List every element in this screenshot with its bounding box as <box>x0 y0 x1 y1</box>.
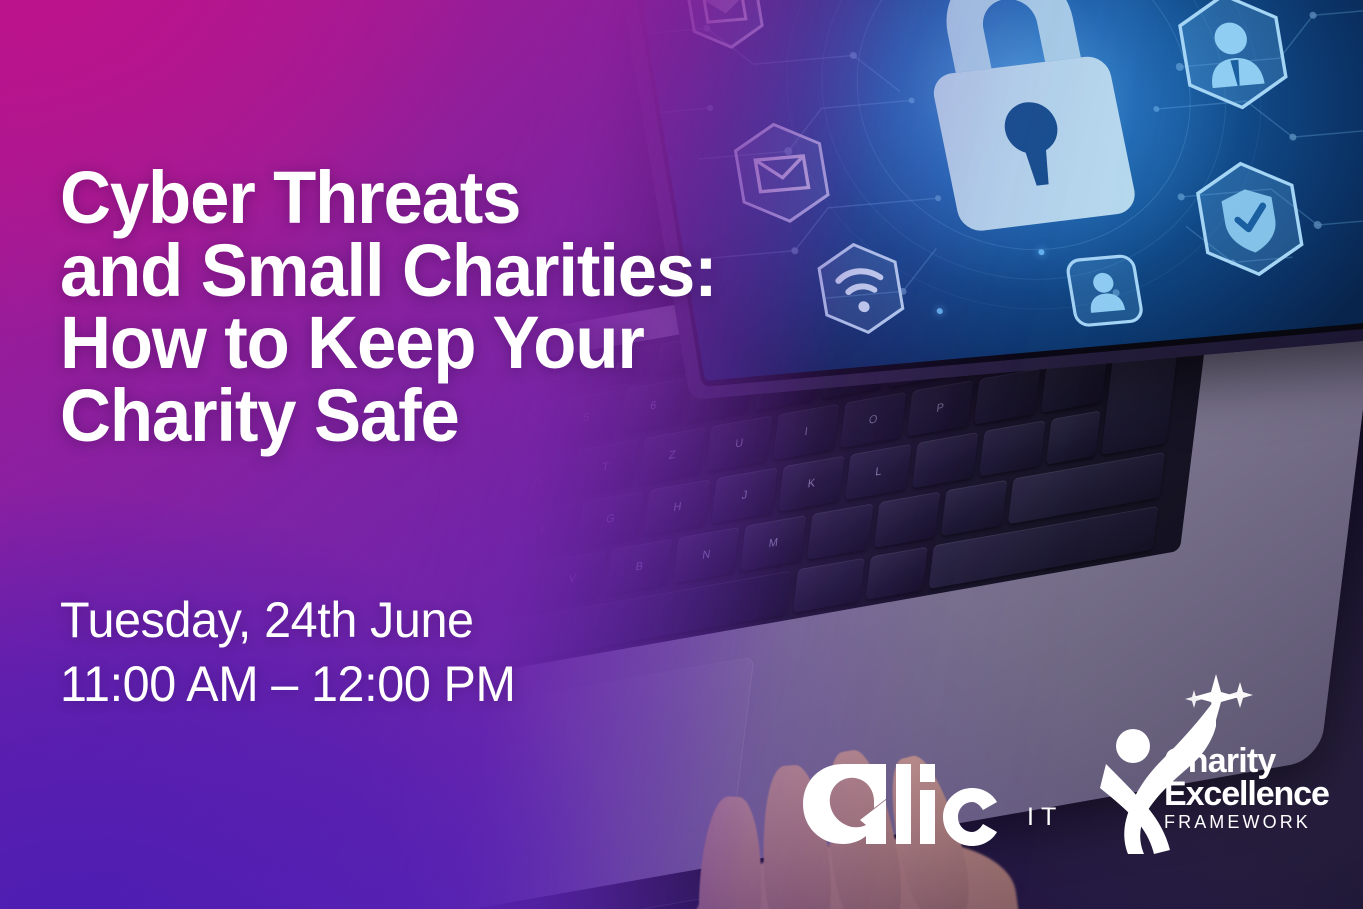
banner-content: Cyber Threats and Small Charities: How t… <box>0 0 1363 909</box>
page-title: Cyber Threats and Small Charities: How t… <box>60 162 709 452</box>
webinar-promo-banner: Esc F1 F2 F3 F4 F5 F6 F7 F8 F9 F10 F11 F… <box>0 0 1363 909</box>
headline-line-4: Charity Safe <box>60 380 709 453</box>
headline-line-1: Cyber Threats <box>60 162 709 235</box>
qlic-suffix: IT <box>1027 803 1063 832</box>
qlic-wordmark <box>800 762 1005 848</box>
headline-line-2: and Small Charities: <box>60 235 709 308</box>
qlic-wordmark-glyphs <box>800 762 1005 848</box>
cef-line-2: Excellence <box>1164 779 1329 810</box>
event-schedule: Tuesday, 24th June 11:00 AM – 12:00 PM <box>60 588 661 716</box>
event-time: 11:00 AM – 12:00 PM <box>60 652 661 716</box>
charity-excellence-logo[interactable]: Charity Excellence FRAMEWORK <box>1098 668 1313 868</box>
cef-line-1: Charity <box>1164 746 1329 777</box>
cef-line-3: FRAMEWORK <box>1164 812 1329 833</box>
event-date: Tuesday, 24th June <box>60 588 661 652</box>
qlic-logo[interactable]: IT <box>800 762 1063 848</box>
cef-wordmark: Charity Excellence FRAMEWORK <box>1164 746 1329 833</box>
headline-line-3: How to Keep Your <box>60 307 709 380</box>
